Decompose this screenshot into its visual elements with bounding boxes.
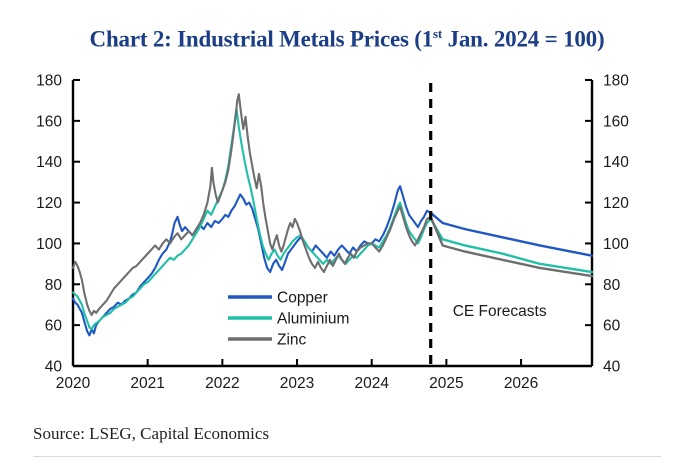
source-note: Source: LSEG, Capital Economics xyxy=(33,424,269,444)
bottom-divider xyxy=(33,456,661,457)
x-tick-label: 2023 xyxy=(280,375,314,392)
y-tick-label-left: 60 xyxy=(45,318,63,335)
y-tick-label-left: 180 xyxy=(36,73,62,90)
y-tick-label-right: 180 xyxy=(603,73,629,90)
series-line-zinc xyxy=(73,94,431,315)
legend-label-copper: Copper xyxy=(277,290,328,307)
y-tick-label-right: 120 xyxy=(603,195,629,212)
x-tick-label: 2024 xyxy=(354,375,389,392)
x-tick-label: 2026 xyxy=(504,375,538,392)
y-tick-label-left: 120 xyxy=(36,195,62,212)
legend-label-zinc: Zinc xyxy=(277,332,307,349)
axes-group: 4040606080801001001201201401401601601801… xyxy=(36,73,629,393)
y-tick-label-right: 60 xyxy=(603,318,621,335)
x-tick-label: 2025 xyxy=(429,375,463,392)
y-tick-label-right: 40 xyxy=(603,359,621,376)
y-tick-label-right: 100 xyxy=(603,236,629,253)
y-tick-label-right: 80 xyxy=(603,277,621,294)
series-group xyxy=(73,94,592,335)
forecast-label: CE Forecasts xyxy=(453,303,547,320)
plot-area: 4040606080801001001201201401401601601801… xyxy=(0,0,694,400)
legend-group: CopperAluminiumZinc xyxy=(228,290,349,349)
x-tick-label: 2022 xyxy=(205,375,239,392)
x-tick-label: 2021 xyxy=(130,375,164,392)
legend-label-aluminium: Aluminium xyxy=(277,311,349,328)
y-tick-label-left: 160 xyxy=(36,113,62,130)
y-tick-label-right: 160 xyxy=(603,113,629,130)
y-tick-label-left: 40 xyxy=(45,359,63,376)
x-tick-label: 2020 xyxy=(56,375,91,392)
y-tick-label-left: 80 xyxy=(45,277,63,294)
y-tick-label-right: 140 xyxy=(603,154,629,171)
chart-page: Chart 2: Industrial Metals Prices (1st J… xyxy=(0,0,694,471)
chart-svg: 4040606080801001001201201401401601601801… xyxy=(0,0,694,400)
y-tick-label-left: 100 xyxy=(36,236,62,253)
series-line-copper xyxy=(73,186,431,335)
y-tick-label-left: 140 xyxy=(36,154,62,171)
